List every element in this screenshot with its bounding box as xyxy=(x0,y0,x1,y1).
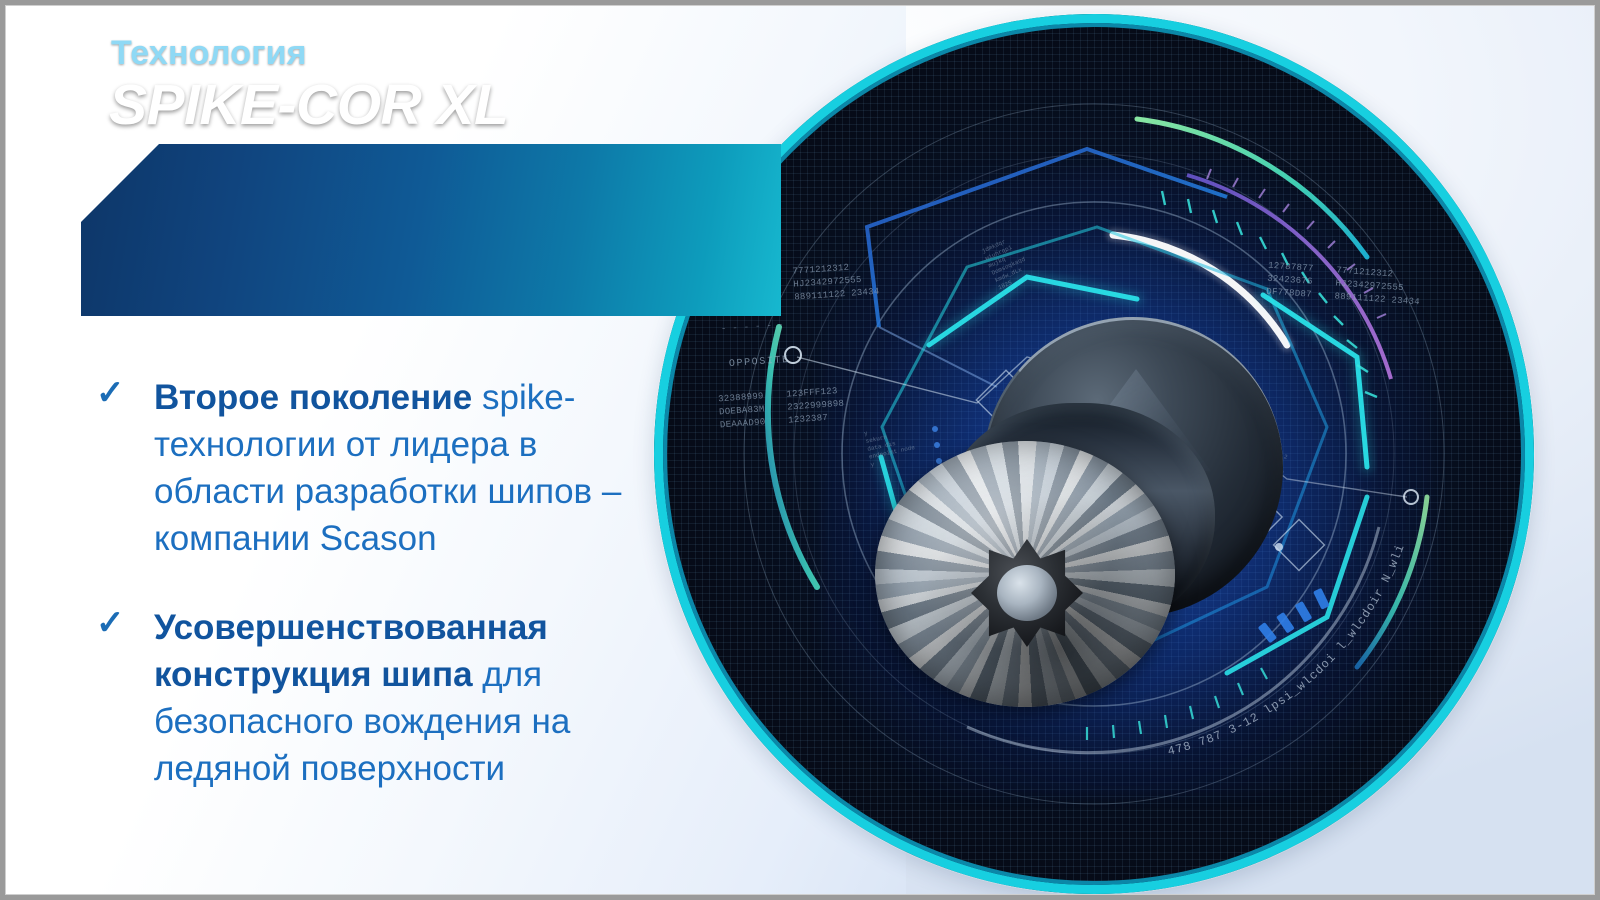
check-icon: ✓ xyxy=(96,608,130,642)
bullet-bold-text: Второе поколение xyxy=(154,378,472,417)
slide-canvas: 478 787 3-12 lpsi_wlcdoi l_wlcdoir N_wli… xyxy=(6,6,1594,894)
list-item: ✓ Второе поколение spike-технологии от л… xyxy=(92,374,672,562)
banner-title: SPIKE-COR XL xyxy=(109,72,508,138)
ring-inner-edge xyxy=(663,23,1525,885)
tire-hud-illustration: 478 787 3-12 lpsi_wlcdoi l_wlcdoir N_wli… xyxy=(654,14,1534,894)
list-item: ✓ Усовершенствованная конструкция шипа д… xyxy=(92,604,672,792)
technology-banner xyxy=(81,144,781,316)
bullet-list: ✓ Второе поколение spike-технологии от л… xyxy=(92,374,672,834)
check-icon: ✓ xyxy=(96,378,130,412)
bullet-text: Второе поколение spike-технологии от лид… xyxy=(154,374,672,562)
bullet-text: Усовершенствованная конструкция шипа для… xyxy=(154,604,672,792)
banner-eyebrow: Технология xyxy=(111,34,307,73)
